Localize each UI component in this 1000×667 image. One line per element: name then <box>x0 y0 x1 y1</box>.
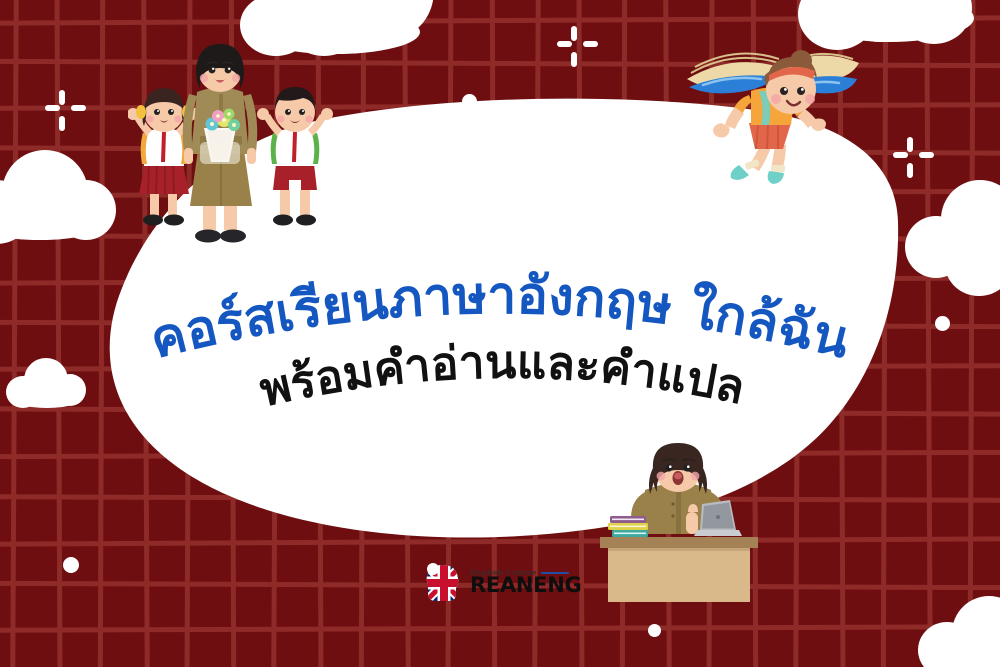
teacher-at-desk-with-laptop-illustration <box>600 442 760 602</box>
logo-text-group: English Course REANENG <box>470 569 581 597</box>
teacher-with-two-students-illustration <box>128 40 338 260</box>
desk <box>600 537 758 602</box>
logo-brand-name: REANENG <box>470 575 581 596</box>
girl-flying-with-book-wings-illustration <box>683 45 863 185</box>
student-boy <box>257 87 333 226</box>
poster-canvas: คอร์สเรียนภาษาอังกฤษ ใกล้ฉัน พร้อมคำอ่าน… <box>0 0 1000 667</box>
teacher-with-flowers <box>183 44 257 243</box>
book-stack <box>608 516 648 537</box>
uk-flag-head-icon <box>423 562 465 604</box>
brand-logo[interactable]: English Course REANENG <box>423 560 583 605</box>
